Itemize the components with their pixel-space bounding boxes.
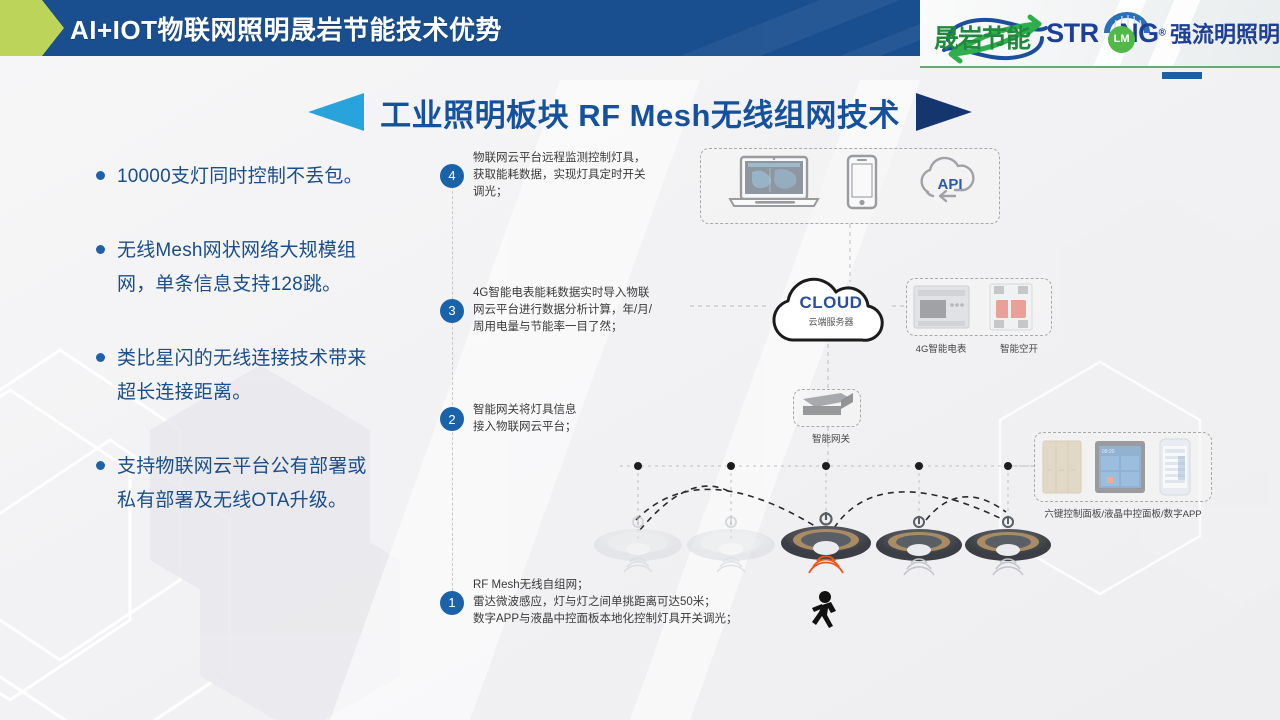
header-title: AI+IOT物联网照明晟岩节能技术优势 <box>70 0 502 56</box>
step-item-1: 1 RF Mesh无线自组网；雷达微波感应，灯与灯之间单挑距离可达50米；数字A… <box>440 577 738 628</box>
metering-devices-box <box>906 278 1052 336</box>
logo-lm-badge: LM <box>1108 26 1135 53</box>
cloud-server-node: CLOUD 云端服务器 <box>770 282 892 344</box>
step-description: 4G智能电表能耗数据实时导入物联网云平台进行数据分析计算，年/月/周用电量与节能… <box>473 285 652 336</box>
bullet-dot-icon <box>96 353 105 362</box>
step-number-badge: 2 <box>440 407 464 431</box>
control-panels-box <box>1034 432 1212 502</box>
slide-title: 工业照明板块 RF Mesh无线组网技术 <box>380 90 900 135</box>
logo-brand-cn: 强流明照明 <box>1170 17 1280 49</box>
walking-person-icon <box>812 591 836 628</box>
step-number-badge: 3 <box>440 299 464 323</box>
logo-registered-mark: ® <box>1159 27 1166 38</box>
bullet-dot-icon <box>96 245 105 254</box>
step-description: RF Mesh无线自组网；雷达微波感应，灯与灯之间单挑距离可达50米；数字APP… <box>473 577 738 628</box>
step-number-badge: 4 <box>440 164 464 188</box>
step-description: 物联网云平台远程监测控制灯具，获取能耗数据，实现灯具定时开关调光； <box>473 150 646 201</box>
step-number-badge: 1 <box>440 591 464 615</box>
feature-bullet-list: 10000支灯同时控制不丢包。 无线Mesh网状网络大规模组网，单条信息支持12… <box>96 160 376 558</box>
bullet-text: 类比星闪的无线连接技术带来超长连接距离。 <box>117 342 376 410</box>
smart-breaker-caption: 智能空开 <box>984 341 1054 355</box>
cloud-sublabel: 云端服务器 <box>770 315 892 328</box>
step-description: 智能网关将灯具信息接入物联网云平台； <box>473 402 577 436</box>
smart-meter-caption: 4G智能电表 <box>906 341 976 355</box>
title-arrow-left-icon <box>308 93 364 131</box>
lamp-on-sensing <box>781 512 871 573</box>
api-label: API <box>925 176 975 193</box>
step-item-4: 4 物联网云平台远程监测控制灯具，获取能耗数据，实现灯具定时开关调光； <box>440 150 646 201</box>
gateway-box <box>793 389 861 427</box>
lamp-off-1 <box>594 516 682 572</box>
brand-logo-panel: 晟岩节能 STRONG® LM 强流明照明 <box>920 0 1280 68</box>
cloud-label: CLOUD <box>770 293 892 313</box>
control-panels-caption: 六键控制面板/液晶中控面板/数字APP <box>1034 506 1212 520</box>
bullet-dot-icon <box>96 461 105 470</box>
slide-title-row: 工业照明板块 RF Mesh无线组网技术 <box>0 84 1280 140</box>
list-item: 类比星闪的无线连接技术带来超长连接距离。 <box>96 342 376 410</box>
step-item-2: 2 智能网关将灯具信息接入物联网云平台； <box>440 402 577 436</box>
lamp-off-2 <box>687 516 775 572</box>
logo-company-name-cn: 晟岩节能 <box>934 19 1030 55</box>
logo-underline-accent <box>1162 72 1202 79</box>
list-item: 10000支灯同时控制不丢包。 <box>96 160 376 194</box>
gateway-caption: 智能网关 <box>812 431 892 445</box>
bullet-text: 支持物联网云平台公有部署或私有部署及无线OTA升级。 <box>117 450 376 518</box>
mesh-link-arcs <box>636 486 1006 530</box>
bullet-dot-icon <box>96 171 105 180</box>
step-item-3: 3 4G智能电表能耗数据实时导入物联网云平台进行数据分析计算，年/月/周用电量与… <box>440 285 652 336</box>
bullet-text: 10000支灯同时控制不丢包。 <box>117 160 363 194</box>
list-item: 支持物联网云平台公有部署或私有部署及无线OTA升级。 <box>96 450 376 518</box>
title-arrow-right-icon <box>916 93 972 131</box>
logo-brand-text: STRONG <box>1046 18 1159 48</box>
bullet-text: 无线Mesh网状网络大规模组网，单条信息支持128跳。 <box>117 234 376 302</box>
list-item: 无线Mesh网状网络大规模组网，单条信息支持128跳。 <box>96 234 376 302</box>
